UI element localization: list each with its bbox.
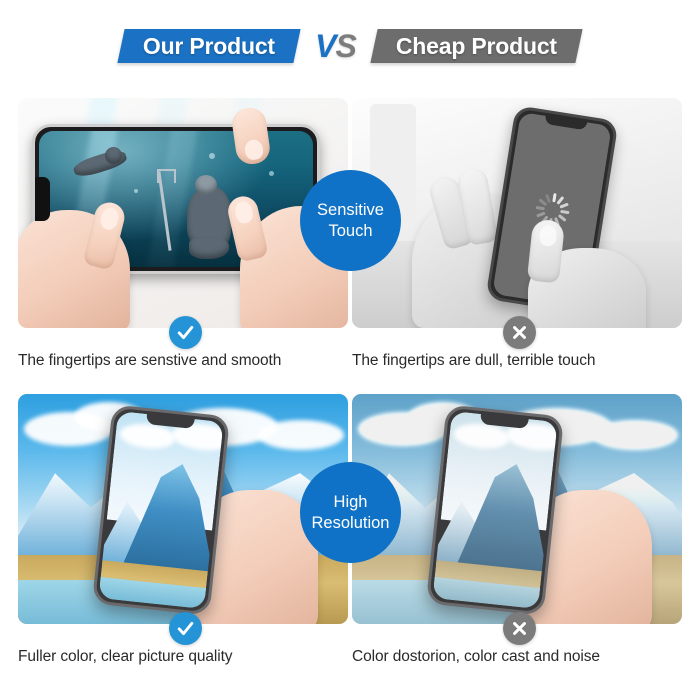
- panel-caption: Color dostorion, color cast and noise: [352, 648, 686, 666]
- cross-icon: [511, 620, 528, 637]
- held-phone-device: [426, 404, 564, 615]
- cross-icon: [511, 324, 528, 341]
- feature-line-1: High: [334, 492, 368, 512]
- photo-gaming-phone: [18, 98, 348, 328]
- feature-badge-sensitive-touch: Sensitive Touch: [300, 170, 401, 271]
- feature-line-1: Sensitive: [317, 200, 384, 220]
- phone-screen-vivid: [98, 411, 223, 609]
- vs-letter-s: S: [336, 28, 356, 64]
- photo-washed-landscape: [352, 394, 682, 624]
- feature-badge-high-resolution: High Resolution: [300, 462, 401, 563]
- vs-letter-v: V: [315, 28, 335, 64]
- panel-caption: The fingertips are dull, terrible touch: [352, 352, 686, 370]
- comparison-header: Our Product VS Cheap Product: [0, 0, 700, 92]
- panel-caption: Fuller color, clear picture quality: [18, 648, 352, 666]
- comparison-grid: The fingertips are senstive and smooth: [0, 92, 700, 700]
- held-phone-device: [92, 404, 230, 615]
- status-badge-check: [169, 612, 202, 645]
- panel-top-right: The fingertips are dull, terrible touch: [352, 98, 686, 370]
- check-icon: [176, 619, 195, 638]
- status-badge-cross: [503, 316, 536, 349]
- vs-label: VS: [315, 30, 356, 62]
- feature-line-2: Touch: [328, 221, 372, 241]
- touching-thumb: [527, 218, 565, 283]
- photo-loading-phone: [352, 98, 682, 328]
- check-icon: [176, 323, 195, 342]
- status-badge-cross: [503, 612, 536, 645]
- our-product-badge: Our Product: [118, 29, 301, 63]
- phone-screen-washed: [432, 411, 557, 609]
- panel-bottom-left: Fuller color, clear picture quality: [18, 394, 352, 666]
- our-product-label: Our Product: [143, 33, 275, 60]
- panel-caption: The fingertips are senstive and smooth: [18, 352, 352, 370]
- feature-line-2: Resolution: [312, 513, 390, 533]
- status-badge-check: [169, 316, 202, 349]
- photo-vivid-landscape: [18, 394, 348, 624]
- panel-bottom-right: Color dostorion, color cast and noise: [352, 394, 686, 666]
- phone-notch: [35, 177, 50, 221]
- cheap-product-badge: Cheap Product: [370, 29, 582, 63]
- cheap-product-label: Cheap Product: [396, 33, 557, 60]
